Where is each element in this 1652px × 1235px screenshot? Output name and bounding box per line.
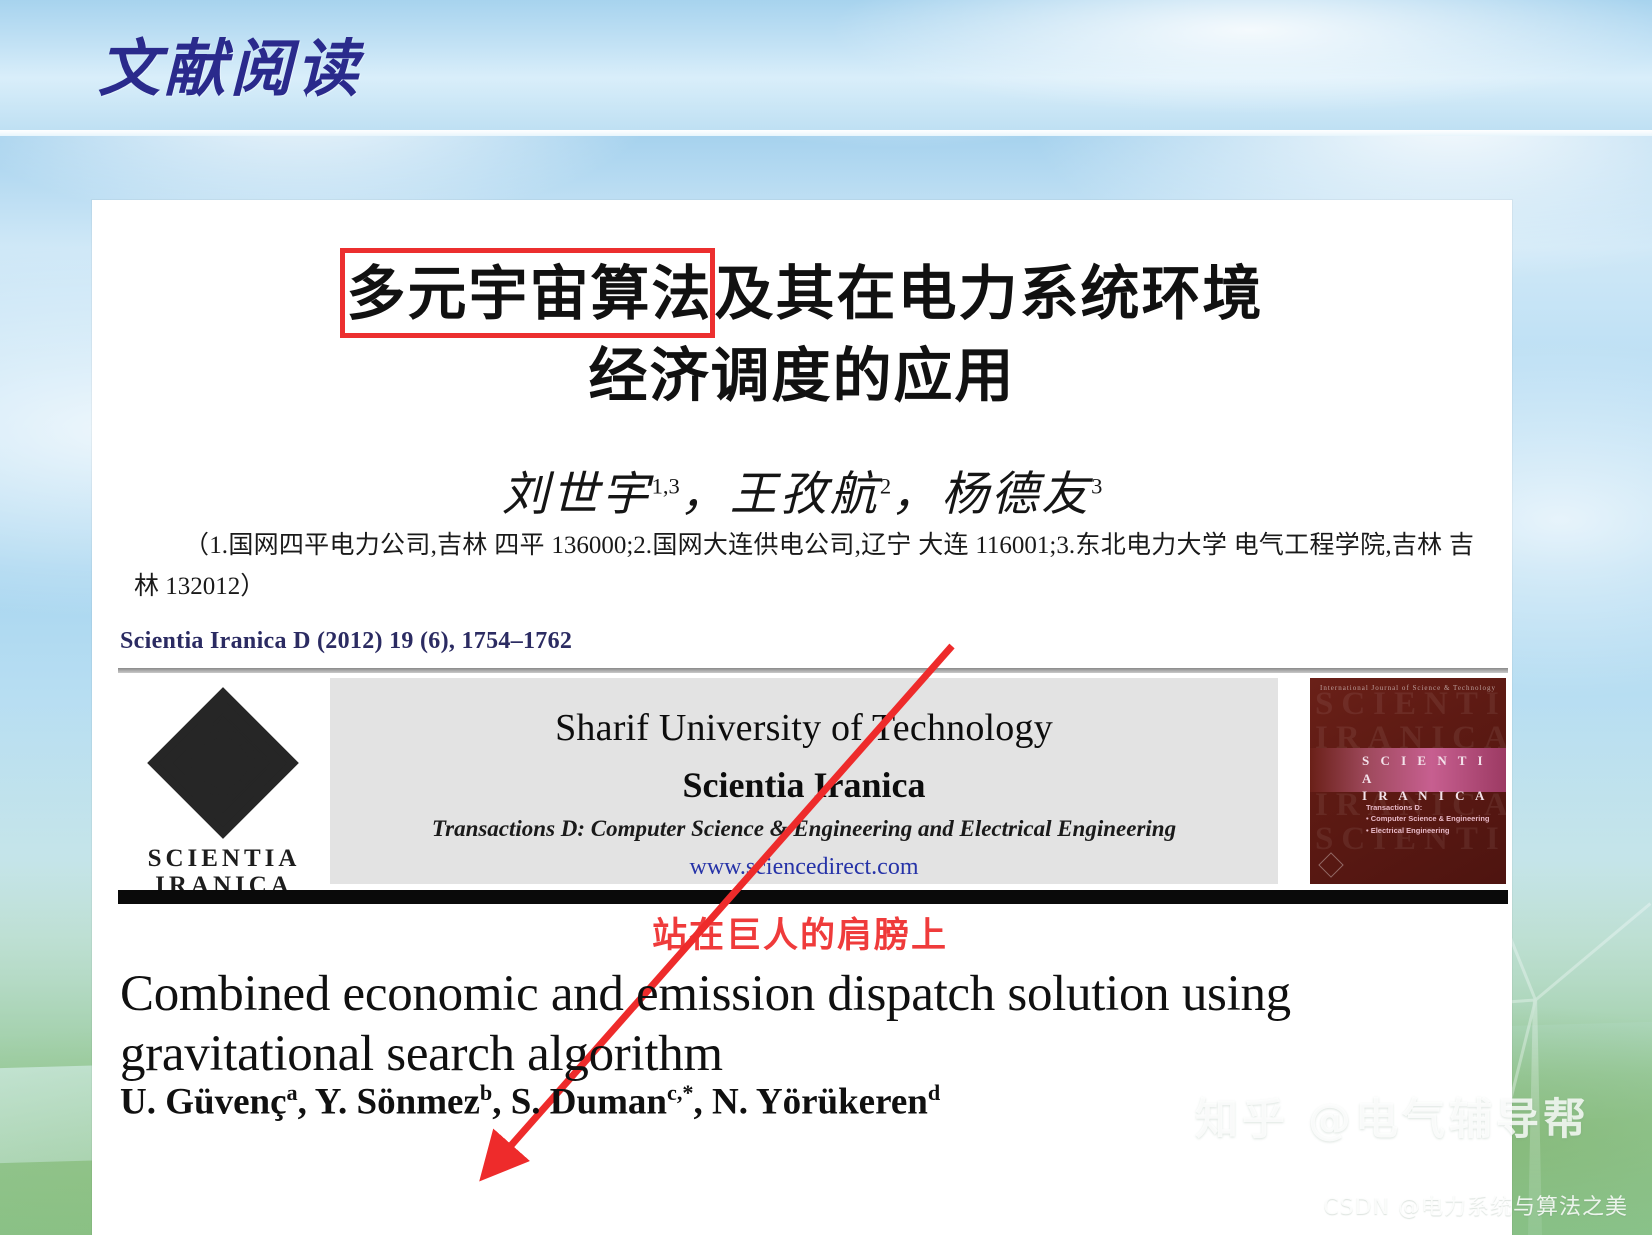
- en-author: U. Güvenç: [120, 1081, 287, 1122]
- cn-affiliation-text: （1.国网四平电力公司,吉林 四平 136000;2.国网大连供电公司,辽宁 大…: [134, 525, 1474, 608]
- zhihu-watermark: 知乎 @电气辅导帮: [1195, 1085, 1590, 1147]
- journal-center-block: Sharif University of Technology Scientia…: [330, 678, 1278, 884]
- cn-author-list: 刘世宇1,3，王孜航2，杨德友3: [92, 455, 1512, 524]
- journal-logo-block: SCIENTIA IRANICA: [118, 678, 330, 896]
- logo-caption-line-1: SCIENTIA: [118, 846, 330, 873]
- cn-title-line-2: 经济调度的应用: [588, 341, 1015, 410]
- journal-transactions: Transactions D: Computer Science & Engin…: [330, 816, 1278, 842]
- annotation-note: 站在巨人的肩膀上: [652, 907, 948, 958]
- journal-masthead: SCIENTIA IRANICA Sharif University of Te…: [118, 678, 1508, 896]
- page-title: 文献阅读: [98, 18, 362, 108]
- en-author-affil-marker: d: [928, 1080, 940, 1105]
- journal-top-rule: [118, 668, 1508, 673]
- cn-author-affil-marker: 1,3: [652, 473, 680, 498]
- cn-author-affil-marker: 3: [1091, 473, 1102, 498]
- cover-sub-line-2: • Computer Science & Engineering: [1366, 813, 1489, 824]
- cover-sub-line-3: • Electrical Engineering: [1366, 825, 1489, 836]
- en-paper-title: Combined economic and emission dispatch …: [120, 965, 1460, 1084]
- en-author-affil-marker: c,*: [667, 1080, 694, 1105]
- cover-title-line-1: S C I E N T I A: [1362, 752, 1506, 787]
- journal-bottom-rule: [118, 890, 1508, 904]
- journal-university: Sharif University of Technology: [330, 706, 1278, 750]
- windmill-blade: [1535, 902, 1652, 1001]
- cn-title-highlight-box: 多元宇宙算法: [340, 248, 714, 338]
- scientia-iranica-logo-icon: [144, 684, 302, 842]
- journal-url-link[interactable]: www.sciencedirect.com: [330, 854, 1278, 881]
- cn-author-affil-marker: 2: [880, 473, 891, 498]
- journal-cover-thumbnail: International Journal of Science & Techn…: [1308, 678, 1508, 884]
- csdn-watermark: CSDN @电力系统与算法之美: [1323, 1189, 1628, 1221]
- document-card: 多元宇宙算法及其在电力系统环境 经济调度的应用 刘世宇1,3，王孜航2，杨德友3…: [92, 200, 1512, 1235]
- presentation-slide: 文献阅读 多元宇宙算法及其在电力系统环境 经济调度的应用 刘世宇1,3，王孜航2…: [0, 0, 1652, 1235]
- header-divider: [0, 130, 1652, 136]
- cn-author: 刘世宇: [502, 469, 652, 521]
- cover-subtitle-text: Transactions D: • Computer Science & Eng…: [1366, 802, 1489, 836]
- cover-title-text: S C I E N T I A I R A N I C A: [1362, 752, 1506, 805]
- cn-author: 杨德友: [941, 469, 1091, 521]
- en-author: S. Duman: [511, 1081, 667, 1122]
- cn-title-rest: 及其在电力系统环境: [715, 259, 1264, 328]
- en-author: N. Yörükeren: [712, 1081, 928, 1122]
- cn-author: 王孜航: [730, 469, 880, 521]
- cn-title-line-1: 多元宇宙算法及其在电力系统环境: [92, 248, 1512, 338]
- journal-cover-art: International Journal of Science & Techn…: [1310, 678, 1506, 884]
- journal-reference-line: Scientia Iranica D (2012) 19 (6), 1754–1…: [120, 628, 572, 655]
- en-author: Y. Sönmez: [315, 1081, 480, 1122]
- journal-name: Scientia Iranica: [330, 764, 1278, 806]
- en-author-affil-marker: a: [287, 1080, 298, 1105]
- cn-paper-title: 多元宇宙算法及其在电力系统环境 经济调度的应用: [92, 248, 1512, 413]
- cover-sub-line-1: Transactions D:: [1366, 802, 1489, 813]
- en-author-affil-marker: b: [480, 1080, 492, 1105]
